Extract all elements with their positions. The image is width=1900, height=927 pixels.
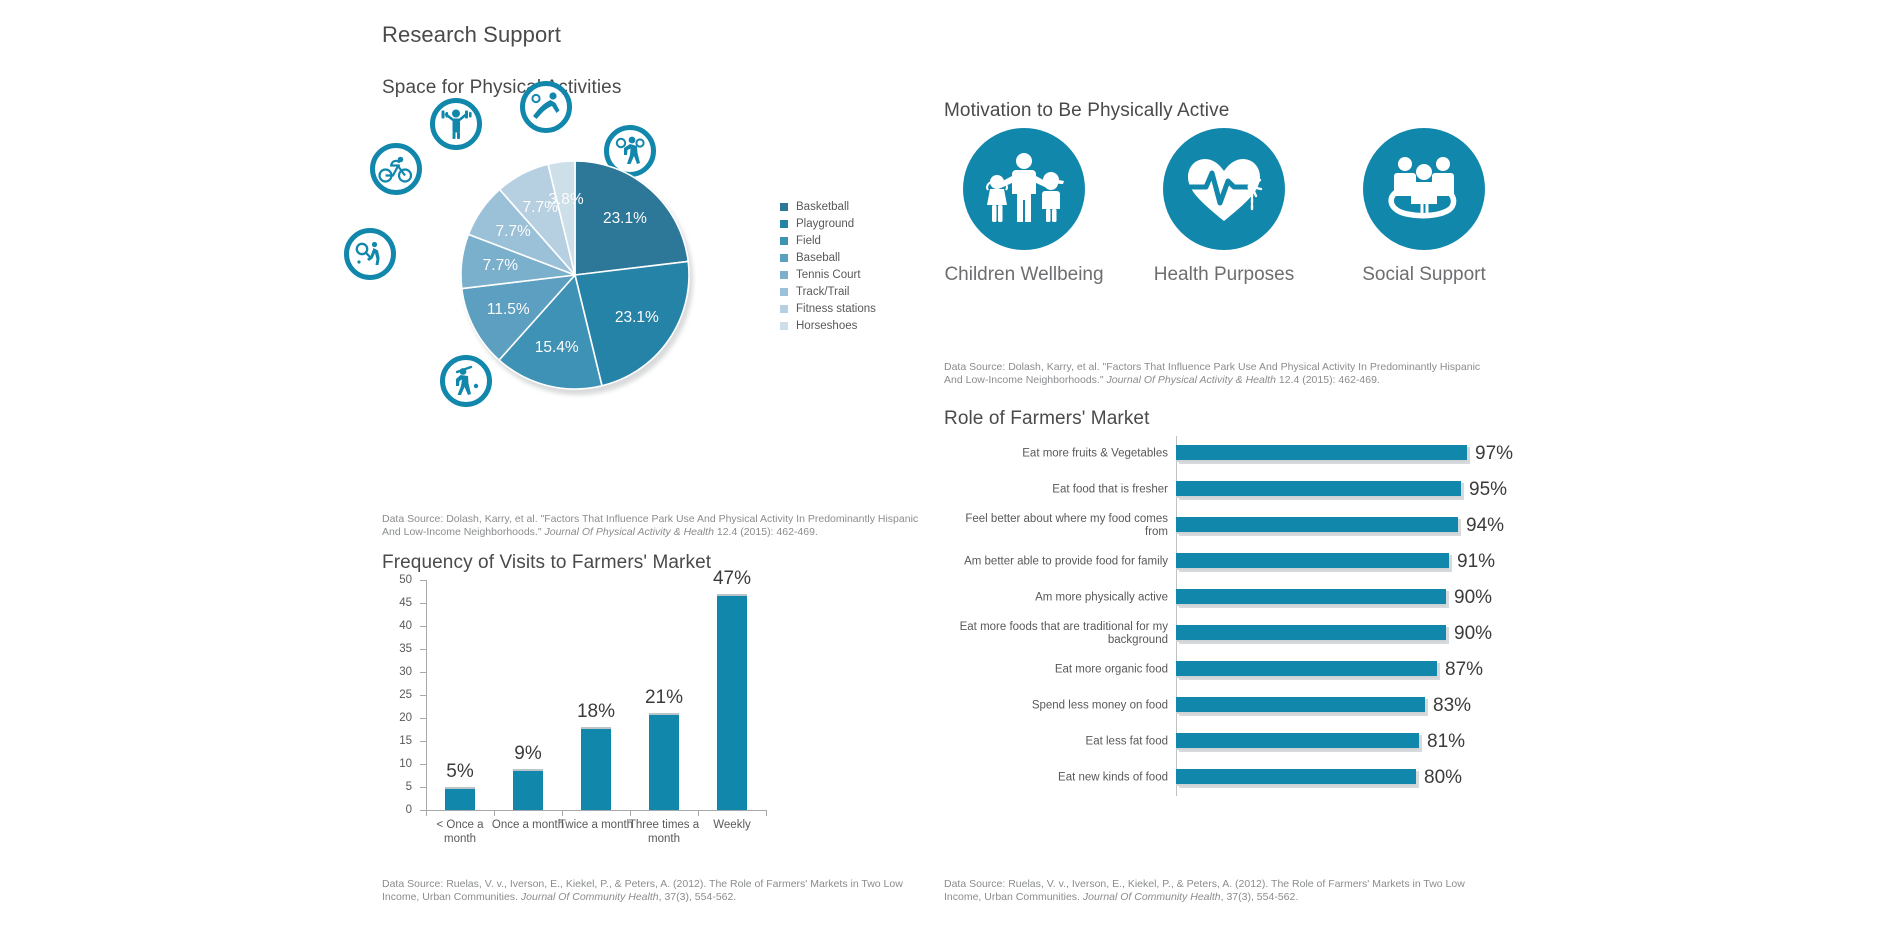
- hbar-value-label: 90%: [1454, 587, 1492, 609]
- hbar-value-label: 97%: [1475, 443, 1513, 465]
- hbar-value-label: 80%: [1424, 767, 1462, 789]
- table-row[interactable]: [649, 713, 679, 810]
- vbar-y-tick: 15: [382, 735, 412, 747]
- pie-slice-label: 11.5%: [487, 301, 530, 319]
- hbar-value-label: 81%: [1427, 731, 1465, 753]
- motivation-label-social-support: Social Support: [1344, 264, 1504, 286]
- vbar-x-tick-mark: [494, 810, 495, 816]
- field-soccer-icon: [520, 81, 572, 133]
- table-row[interactable]: Am better able to provide food for famil…: [944, 548, 1564, 576]
- pie-chart-section: 23.1%23.1%15.4%11.5%7.7%7.7%7.7%3.8% Bas…: [382, 103, 942, 503]
- heart-pulse-icon: [1163, 128, 1285, 250]
- hbar-bar[interactable]: [1176, 445, 1467, 462]
- vbar-x-tick-mark: [562, 810, 563, 816]
- hbar-value-label: 87%: [1445, 659, 1483, 681]
- motivation-item-health-purposes: Health Purposes: [1144, 128, 1304, 286]
- pie-slice-label: 23.1%: [615, 309, 659, 327]
- pie-legend-item[interactable]: Basketball: [780, 198, 876, 215]
- vbar-y-tick: 5: [382, 781, 412, 793]
- role-bar-chart: Eat more fruits & Vegetables97%Eat food …: [944, 400, 1564, 840]
- motivation-item-social-support: Social Support: [1344, 128, 1504, 286]
- table-row[interactable]: [445, 787, 475, 810]
- pie-legend-label: Field: [796, 235, 821, 247]
- vbar-y-axis: [426, 580, 427, 810]
- motivation-footnote-post: 12.4 (2015): 462-469.: [1276, 374, 1380, 386]
- pie-footnote: Data Source: Dolash, Karry, et al. "Fact…: [382, 513, 922, 538]
- vbar-value-label: 18%: [577, 701, 615, 723]
- hbar-category-label: Eat more foods that are traditional for …: [944, 621, 1168, 647]
- motivation-icons-row: Children Wellbeing Health Purposes: [944, 96, 1504, 346]
- pie-legend-swatch: [780, 305, 788, 313]
- hbar-bar[interactable]: [1176, 697, 1425, 714]
- frequency-bar-chart: 05101520253035404550 5%9%18%21%47% < Onc…: [382, 548, 822, 858]
- hbar-value-label: 95%: [1469, 479, 1507, 501]
- pie-legend-item[interactable]: Field: [780, 232, 876, 249]
- motivation-item-children-wellbeing: Children Wellbeing: [944, 128, 1104, 286]
- vbar-x-tick-mark: [698, 810, 699, 816]
- role-footnote-journal: Journal Of Community Health: [1083, 891, 1221, 903]
- vbar-x-tick-mark: [630, 810, 631, 816]
- pie-legend-swatch: [780, 254, 788, 262]
- pie-legend-label: Horseshoes: [796, 320, 857, 332]
- hbar-bar[interactable]: [1176, 517, 1458, 534]
- pie-slice-label: 23.1%: [603, 210, 647, 228]
- hbar-value-label: 90%: [1454, 623, 1492, 645]
- pie-legend-swatch: [780, 237, 788, 245]
- hbar-value-label: 83%: [1433, 695, 1471, 717]
- pie-footnote-journal: Journal Of Physical Activity & Health: [545, 526, 714, 538]
- motivation-footnote-journal: Journal Of Physical Activity & Health: [1107, 374, 1276, 386]
- hbar-bar[interactable]: [1176, 733, 1419, 750]
- tennis-icon: [344, 228, 396, 280]
- vbar-y-tick: 35: [382, 643, 412, 655]
- vbar-y-tick-mark: [420, 580, 426, 581]
- vbar-y-tick: 0: [382, 804, 412, 816]
- vbar-y-tick-mark: [420, 603, 426, 604]
- hbar-bar[interactable]: [1176, 553, 1449, 570]
- vbar-y-tick-mark: [420, 741, 426, 742]
- vbar-y-tick-mark: [420, 764, 426, 765]
- pie-legend-swatch: [780, 288, 788, 296]
- vbar-category-label: Weekly: [692, 818, 772, 832]
- hbar-bar[interactable]: [1176, 481, 1461, 498]
- hbar-category-label: Eat food that is fresher: [944, 484, 1168, 497]
- vbar-y-tick-mark: [420, 649, 426, 650]
- pie-legend-item[interactable]: Baseball: [780, 249, 876, 266]
- pie-slice-label: 3.8%: [548, 191, 583, 209]
- pie-legend-swatch: [780, 322, 788, 330]
- pie-legend-item[interactable]: Horseshoes: [780, 317, 876, 334]
- hbar-category-label: Am better able to provide food for famil…: [944, 556, 1168, 569]
- table-row[interactable]: [717, 594, 747, 810]
- hbar-category-label: Eat new kinds of food: [944, 772, 1168, 785]
- pie-legend-label: Baseball: [796, 252, 840, 264]
- table-row[interactable]: [581, 727, 611, 810]
- pie-legend: BasketballPlaygroundFieldBaseballTennis …: [780, 198, 876, 334]
- vbar-x-tick-mark: [426, 810, 427, 816]
- hbar-category-label: Feel better about where my food comes fr…: [944, 513, 1168, 539]
- role-footnote: Data Source: Ruelas, V. v., Iverson, E.,…: [944, 878, 1484, 903]
- pie-section-title: Space for Physical Activities: [382, 77, 621, 99]
- pie-legend-item[interactable]: Fitness stations: [780, 300, 876, 317]
- vbar-value-label: 47%: [713, 568, 751, 590]
- hbar-category-label: Spend less money on food: [944, 700, 1168, 713]
- table-row[interactable]: Am more physically active90%: [944, 584, 1564, 612]
- role-footnote-post: , 37(3), 554-562.: [1221, 891, 1299, 903]
- vbar-y-tick: 20: [382, 712, 412, 724]
- pie-legend-label: Tennis Court: [796, 269, 861, 281]
- table-row[interactable]: Eat food that is fresher95%: [944, 476, 1564, 504]
- vbar-y-tick: 45: [382, 597, 412, 609]
- table-row[interactable]: Eat more fruits & Vegetables97%: [944, 440, 1564, 468]
- hbar-value-label: 91%: [1457, 551, 1495, 573]
- vbar-y-tick: 10: [382, 758, 412, 770]
- hbar-bar[interactable]: [1176, 661, 1437, 678]
- pie-footnote-post: 12.4 (2015): 462-469.: [714, 526, 818, 538]
- table-row[interactable]: Eat more organic food87%: [944, 656, 1564, 684]
- vbar-value-label: 9%: [514, 743, 541, 765]
- hbar-value-label: 94%: [1466, 515, 1504, 537]
- vbar-x-tick-mark: [766, 810, 767, 816]
- hbar-category-label: Eat less fat food: [944, 736, 1168, 749]
- pie-legend-swatch: [780, 203, 788, 211]
- pie-chart: 23.1%23.1%15.4%11.5%7.7%7.7%7.7%3.8%: [460, 160, 690, 390]
- hbar-category-label: Eat more fruits & Vegetables: [944, 448, 1168, 461]
- hbar-bar[interactable]: [1176, 625, 1446, 642]
- hbar-bar[interactable]: [1176, 769, 1416, 786]
- people-group-icon: [1363, 128, 1485, 250]
- pie-legend-item[interactable]: Track/Trail: [780, 283, 876, 300]
- hbar-bar[interactable]: [1176, 589, 1446, 606]
- frequency-footnote-journal: Journal Of Community Health: [521, 891, 659, 903]
- pie-legend-label: Fitness stations: [796, 303, 876, 315]
- pie-slice-label: 15.4%: [535, 339, 579, 357]
- vbar-y-tick-mark: [420, 626, 426, 627]
- vbar-y-tick: 30: [382, 666, 412, 678]
- pie-slice-label: 7.7%: [495, 223, 530, 241]
- pie-legend-swatch: [780, 220, 788, 228]
- vbar-y-tick-mark: [420, 695, 426, 696]
- table-row[interactable]: Eat more foods that are traditional for …: [944, 620, 1564, 648]
- pie-legend-label: Track/Trail: [796, 286, 849, 298]
- table-row[interactable]: Spend less money on food83%: [944, 692, 1564, 720]
- page-title: Research Support: [382, 22, 561, 48]
- table-row[interactable]: Eat less fat food81%: [944, 728, 1564, 756]
- vbar-x-axis: [426, 810, 766, 811]
- pie-legend-item[interactable]: Tennis Court: [780, 266, 876, 283]
- vbar-y-tick: 50: [382, 574, 412, 586]
- hbar-category-label: Am more physically active: [944, 592, 1168, 605]
- pie-legend-label: Playground: [796, 218, 854, 230]
- vbar-y-tick-mark: [420, 672, 426, 673]
- vbar-y-tick: 40: [382, 620, 412, 632]
- table-row[interactable]: Eat new kinds of food80%: [944, 764, 1564, 792]
- frequency-footnote: Data Source: Ruelas, V. v., Iverson, E.,…: [382, 878, 922, 903]
- family-children-icon: [963, 128, 1085, 250]
- pie-legend-item[interactable]: Playground: [780, 215, 876, 232]
- vbar-y-tick-mark: [420, 787, 426, 788]
- table-row[interactable]: Feel better about where my food comes fr…: [944, 512, 1564, 540]
- fitness-weights-icon: [430, 98, 482, 150]
- hbar-category-label: Eat more organic food: [944, 664, 1168, 677]
- table-row[interactable]: [513, 769, 543, 810]
- pie-legend-swatch: [780, 271, 788, 279]
- pie-legend-label: Basketball: [796, 201, 849, 213]
- infographic-page: Research Support Space for Physical Acti…: [0, 0, 1900, 927]
- motivation-label-children-wellbeing: Children Wellbeing: [944, 264, 1104, 286]
- bicycle-icon: [370, 143, 422, 195]
- vbar-y-tick-mark: [420, 718, 426, 719]
- vbar-value-label: 21%: [645, 687, 683, 709]
- motivation-footnote: Data Source: Dolash, Karry, et al. "Fact…: [944, 361, 1484, 386]
- vbar-value-label: 5%: [446, 761, 473, 783]
- pie-slice-label: 7.7%: [483, 257, 518, 275]
- frequency-footnote-post: , 37(3), 554-562.: [659, 891, 737, 903]
- vbar-y-tick: 25: [382, 689, 412, 701]
- motivation-label-health-purposes: Health Purposes: [1144, 264, 1304, 286]
